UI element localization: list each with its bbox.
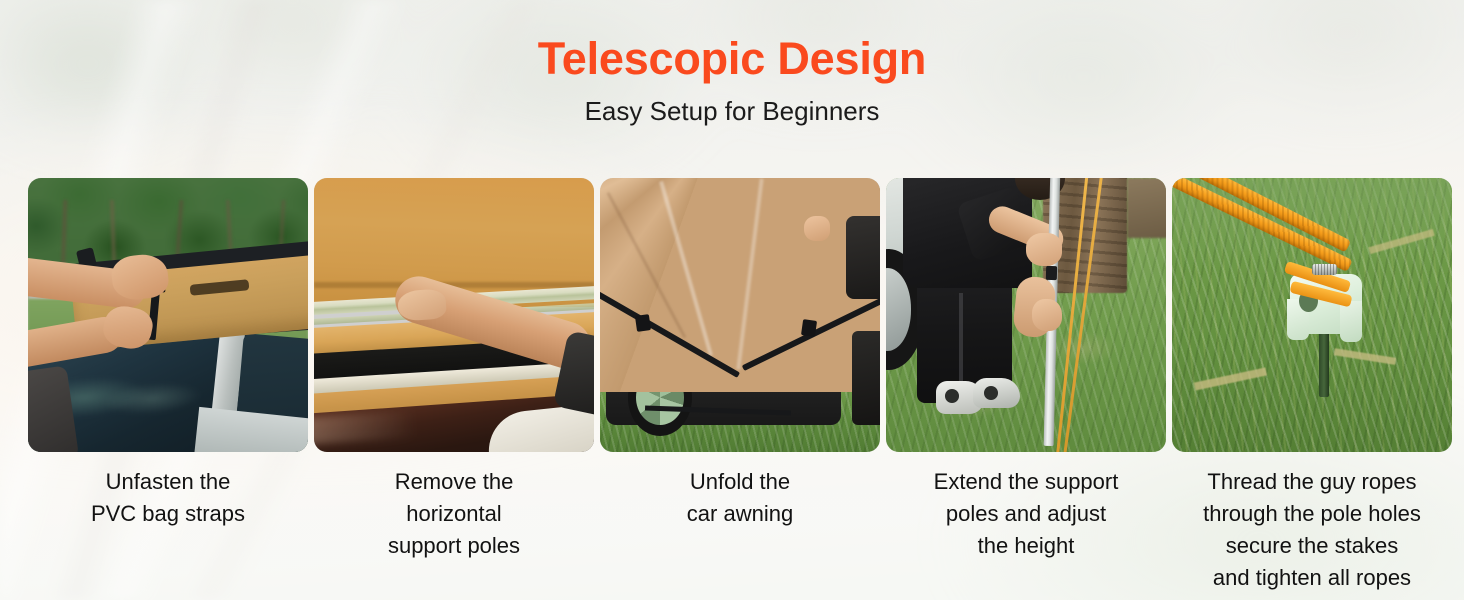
step-3: Unfold the car awning [600,178,880,594]
canopy-clip-right [801,320,817,338]
step-3-photo [600,178,880,452]
step-5-caption: Thread the guy ropes through the pole ho… [1172,466,1452,594]
ground-stake-peg [1319,331,1329,397]
page-subtitle: Easy Setup for Beginners [0,96,1464,127]
person-upper [846,216,880,298]
holding-hand [804,216,829,241]
stake-nail-knurling [1312,264,1337,275]
step-4: Extend the support poles and adjust the … [886,178,1166,594]
step-4-photo [886,178,1166,452]
infographic-page: Telescopic Design Easy Setup for Beginne… [0,0,1464,600]
lower-hand-grip [1032,299,1063,332]
stake-hook-right [1340,301,1362,342]
step-3-caption: Unfold the car awning [600,466,880,530]
canopy-clip-left [635,314,651,332]
step-5-photo [1172,178,1452,452]
step-5: Thread the guy ropes through the pole ho… [1172,178,1452,594]
step-4-caption: Extend the support poles and adjust the … [886,466,1166,562]
step-2: Remove the horizontal support poles [314,178,594,594]
upper-hand-grip [1026,233,1062,266]
left-shoe-detail [945,389,959,403]
step-2-photo [314,178,594,452]
stone-wall-blur [1127,178,1166,238]
step-2-caption: Remove the horizontal support poles [314,466,594,562]
header: Telescopic Design Easy Setup for Beginne… [0,0,1464,128]
gripping-hand [397,289,447,322]
right-shoe-detail [984,386,998,400]
pole-adjustment-collar [1046,266,1057,280]
step-1-photo [28,178,308,452]
page-title: Telescopic Design [0,34,1464,84]
steps-row: Unfasten the PVC bag straps [28,178,1436,594]
step-1-caption: Unfasten the PVC bag straps [28,466,308,530]
step-1: Unfasten the PVC bag straps [28,178,308,594]
person-lower [852,331,880,424]
